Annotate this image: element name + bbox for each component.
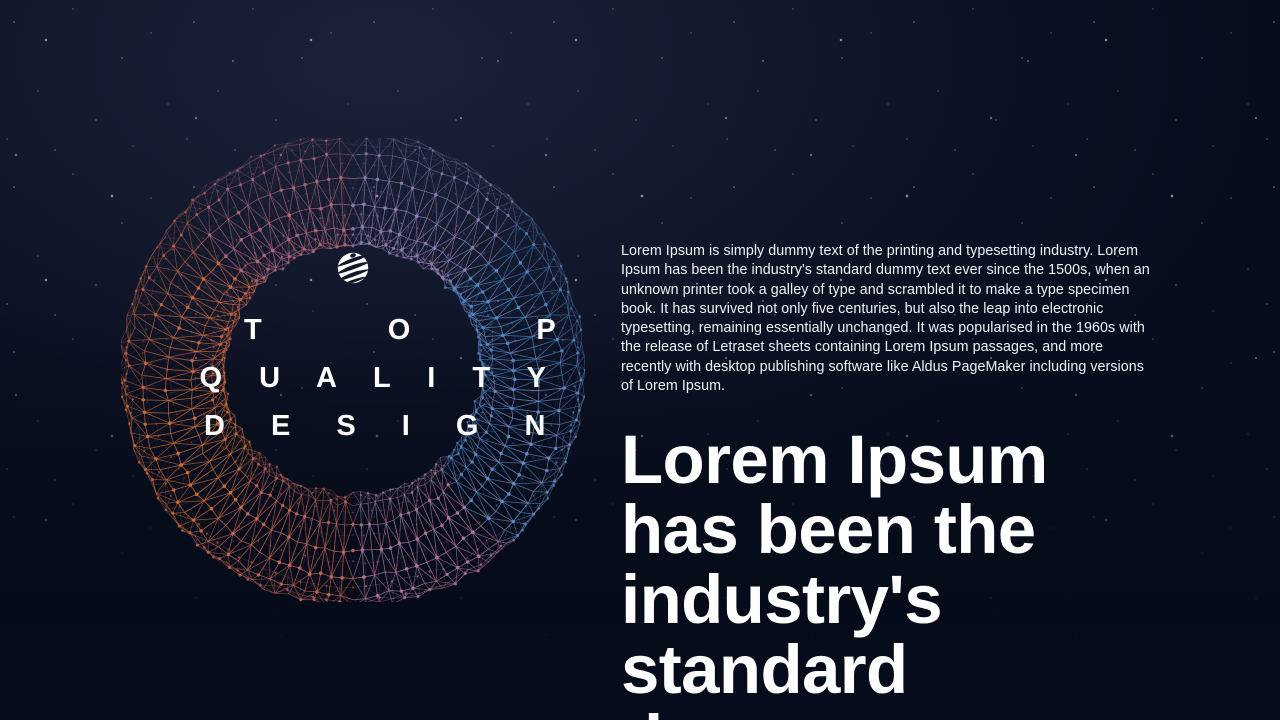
body-paragraph: Lorem Ipsum is simply dummy text of the … bbox=[621, 242, 1151, 396]
lockup-line-quality: Q U A L I T Y bbox=[185, 364, 521, 393]
striped-globe-icon bbox=[333, 248, 373, 288]
headline: Lorem Ipsum has been the industry's stan… bbox=[621, 425, 1051, 720]
lockup-line-top: T O P bbox=[185, 316, 521, 345]
slide-canvas: T O P Q U A L I T Y D E S I G N Lorem Ip… bbox=[0, 0, 1280, 720]
lockup-line-design: D E S I G N bbox=[185, 412, 521, 441]
center-lockup: T O P Q U A L I T Y D E S I G N bbox=[185, 248, 521, 441]
